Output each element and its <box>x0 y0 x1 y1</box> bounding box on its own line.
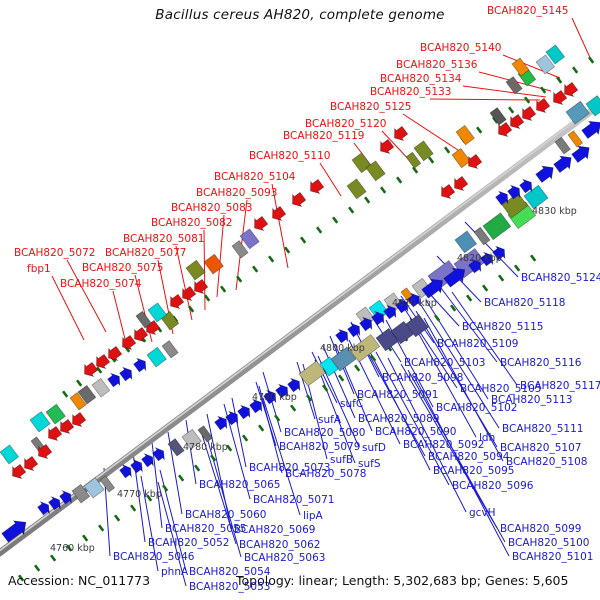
gene-feature[interactable] <box>46 404 65 424</box>
gene-label[interactable]: BCAH820_5101 <box>512 551 593 563</box>
gene-label[interactable]: BCAH820_5134 <box>380 73 462 85</box>
gene-feature[interactable] <box>30 412 50 432</box>
trna-mark <box>348 206 354 213</box>
gene-label[interactable]: gcvH <box>469 507 496 519</box>
gene-label[interactable]: BCAH820_5108 <box>506 456 587 468</box>
gene-feature[interactable] <box>147 347 166 367</box>
label-leader-line <box>430 99 540 100</box>
trna-mark <box>514 264 520 271</box>
gene-feature[interactable] <box>132 355 150 374</box>
gene-label[interactable]: BCAH820_5072 <box>14 247 95 259</box>
gene-label[interactable]: BCAH820_5065 <box>199 479 280 491</box>
gene-label[interactable]: BCAH820_5052 <box>148 537 229 549</box>
trna-mark <box>354 364 360 371</box>
gene-label[interactable]: BCAH820_5060 <box>185 509 266 521</box>
trna-mark <box>82 534 88 541</box>
gene-label[interactable]: fbp1 <box>27 263 51 275</box>
gene-label[interactable]: BCAH820_5080 <box>284 427 365 439</box>
gene-label[interactable]: BCAH820_5094 <box>428 451 510 463</box>
trna-mark <box>34 564 40 571</box>
gene-label[interactable]: BCAH820_5118 <box>484 297 565 309</box>
gene-label[interactable]: BCAH820_5091 <box>357 389 438 401</box>
trna-mark <box>242 434 248 441</box>
label-leader-line <box>463 86 546 97</box>
gene-feature[interactable] <box>306 177 325 197</box>
axis-tick-label: 4790 kbp <box>252 392 297 403</box>
gene-label[interactable]: BCAH820_5046 <box>113 551 195 563</box>
trna-mark <box>220 285 226 292</box>
axis-tick-label: 4800 kbp <box>320 343 365 354</box>
gene-label[interactable]: sufB <box>330 454 353 466</box>
trna-mark <box>476 126 482 133</box>
gene-label[interactable]: BCAH820_5098 <box>382 372 463 384</box>
trna-mark <box>50 554 56 561</box>
trna-mark <box>76 379 82 386</box>
gene-label[interactable]: BCAH820_5096 <box>452 480 534 492</box>
gene-feature[interactable] <box>490 108 506 125</box>
trna-mark <box>300 236 306 243</box>
trna-mark <box>258 424 264 431</box>
trna-mark <box>338 374 344 381</box>
label-leader-line <box>403 114 461 152</box>
gene-feature[interactable] <box>566 101 589 124</box>
trna-mark <box>434 314 440 321</box>
lower-gene-labels[interactable]: BCAH820_5124BCAH820_5118BCAH820_5115BCAH… <box>113 272 600 593</box>
gene-label[interactable]: BCAH820_5063 <box>244 552 325 564</box>
axis-tick-label: 4760 kbp <box>50 543 95 554</box>
gene-label[interactable]: BCAH820_5140 <box>420 42 501 54</box>
accession-status: Accession: NC_011773 <box>8 573 150 588</box>
trna-mark <box>252 265 258 272</box>
trna-mark <box>62 390 68 397</box>
trna-mark <box>268 255 274 262</box>
gene-label[interactable]: BCAH820_5116 <box>500 357 582 369</box>
gene-label[interactable]: BCAH820_5074 <box>60 278 142 290</box>
gene-label[interactable]: BCAH820_5078 <box>285 468 366 480</box>
trna-mark <box>332 216 338 223</box>
gene-label[interactable]: BCAH820_5095 <box>433 465 514 477</box>
axis-tick-label: 4770 kbp <box>117 489 162 500</box>
gene-label[interactable]: sufC <box>340 398 363 410</box>
gene-label[interactable]: BCAH820_5109 <box>437 338 518 350</box>
gene-label[interactable]: BCAH820_5093 <box>196 187 277 199</box>
gene-label[interactable]: BCAH820_5090 <box>375 426 456 438</box>
trna-mark <box>588 56 594 63</box>
gene-label[interactable]: BCAH820_5082 <box>151 217 232 229</box>
gene-label[interactable]: sufA <box>318 414 342 426</box>
trna-mark <box>98 524 104 531</box>
gene-label[interactable]: BCAH820_5055 <box>165 523 246 535</box>
gene-label[interactable]: BCAH820_5083 <box>171 202 252 214</box>
trna-mark <box>178 474 184 481</box>
gene-label[interactable]: BCAH820_5104 <box>214 171 296 183</box>
gene-feature[interactable] <box>452 148 470 167</box>
trna-mark <box>508 106 514 113</box>
trna-mark <box>466 294 472 301</box>
gene-feature[interactable] <box>162 341 178 358</box>
trna-mark <box>290 404 296 411</box>
gene-label[interactable]: BCAH820_5102 <box>436 402 517 414</box>
trna-mark <box>530 254 536 261</box>
gene-label[interactable]: BCAH820_5103 <box>404 357 485 369</box>
gene-feature[interactable] <box>118 364 136 383</box>
gene-label[interactable]: BCAH820_5071 <box>253 494 334 506</box>
trna-mark <box>396 176 402 183</box>
gene-feature[interactable] <box>390 124 409 144</box>
gene-label[interactable]: BCAH820_5115 <box>462 321 543 333</box>
gene-label[interactable]: BCAH820_5079 <box>279 441 360 453</box>
gene-label[interactable]: BCAH820_5119 <box>283 130 364 142</box>
label-leader-line <box>320 163 341 196</box>
gene-label[interactable]: BCAH820_5145 <box>487 5 568 17</box>
gene-feature[interactable] <box>168 439 184 456</box>
axis-tick-label: 4780 kbp <box>183 442 228 453</box>
gene-feature[interactable] <box>186 260 205 280</box>
gene-label[interactable]: BCAH820_5092 <box>403 439 484 451</box>
trna-mark <box>450 304 456 311</box>
gene-label[interactable]: BCAH820_5136 <box>396 59 478 71</box>
trna-mark <box>188 305 194 312</box>
axis-tick-label: 4820 kbp <box>457 253 502 264</box>
label-leader-line <box>572 18 592 62</box>
upper-gene-labels[interactable]: BCAH820_5145BCAH820_5140BCAH820_5136BCAH… <box>14 5 568 290</box>
trna-mark <box>428 156 434 163</box>
trna-mark <box>540 86 546 93</box>
gene-label[interactable]: sufD <box>362 442 386 454</box>
gene-feature[interactable] <box>288 190 307 210</box>
gene-feature[interactable] <box>268 204 287 224</box>
gene-label[interactable]: BCAH820_5125 <box>330 101 411 113</box>
gene-feature[interactable] <box>570 141 594 165</box>
trna-mark <box>380 186 386 193</box>
gene-feature[interactable] <box>483 213 511 240</box>
gene-label[interactable]: BCAH820_5111 <box>502 423 583 435</box>
gene-label[interactable]: BCAH820_5133 <box>370 86 451 98</box>
gene-label[interactable]: BCAH820_5107 <box>500 442 581 454</box>
trna-mark <box>572 66 578 73</box>
gene-label[interactable]: phnA <box>161 566 189 578</box>
gene-feature[interactable] <box>437 182 456 202</box>
trna-mark <box>444 146 450 153</box>
genome-map-canvas[interactable]: 4760 kbp4770 kbp4780 kbp4790 kbp4800 kbp… <box>0 0 600 600</box>
gene-feature[interactable] <box>456 125 474 144</box>
gene-label[interactable]: BCAH820_5075 <box>82 262 163 274</box>
gene-label[interactable]: BCAH820_5099 <box>500 523 581 535</box>
trna-mark <box>364 196 370 203</box>
trna-mark <box>130 504 136 511</box>
gene-label[interactable]: BCAH820_5120 <box>305 118 386 130</box>
trna-mark <box>316 226 322 233</box>
gene-label[interactable]: BCAH820_5100 <box>508 537 589 549</box>
gene-feature[interactable] <box>347 179 366 199</box>
gene-feature[interactable] <box>0 445 19 464</box>
axis-tick-label: 4810 kbp <box>392 298 437 309</box>
trna-mark <box>194 464 200 471</box>
gene-label[interactable]: BCAH820_5110 <box>249 150 330 162</box>
gene-feature[interactable] <box>151 445 168 463</box>
gene-label[interactable]: BCAH820_5062 <box>239 539 320 551</box>
gene-feature[interactable] <box>376 137 395 157</box>
gene-feature[interactable] <box>92 378 110 397</box>
gene-label[interactable]: BCAH820_5089 <box>358 413 439 425</box>
gene-label[interactable]: BCAH820_5105 <box>460 383 541 395</box>
gene-feature[interactable] <box>506 77 522 94</box>
topology-status: Topology: linear; Length: 5,302,683 bp; … <box>236 573 568 588</box>
genome-map-viewer: Bacillus cereus AH820, complete genome 4… <box>0 0 600 600</box>
trna-mark <box>498 274 504 281</box>
gene-label[interactable]: BCAH820_5081 <box>123 233 204 245</box>
gene-label[interactable]: BCAH820_5124 <box>521 272 600 284</box>
trna-mark <box>482 284 488 291</box>
gene-label[interactable]: BCAH820_5077 <box>105 247 186 259</box>
axis-tick-label: 4830 kbp <box>532 206 577 217</box>
gene-label[interactable]: lipA <box>303 510 323 522</box>
trna-mark <box>114 514 120 521</box>
gene-feature[interactable] <box>250 214 269 234</box>
gene-feature[interactable] <box>568 131 583 147</box>
